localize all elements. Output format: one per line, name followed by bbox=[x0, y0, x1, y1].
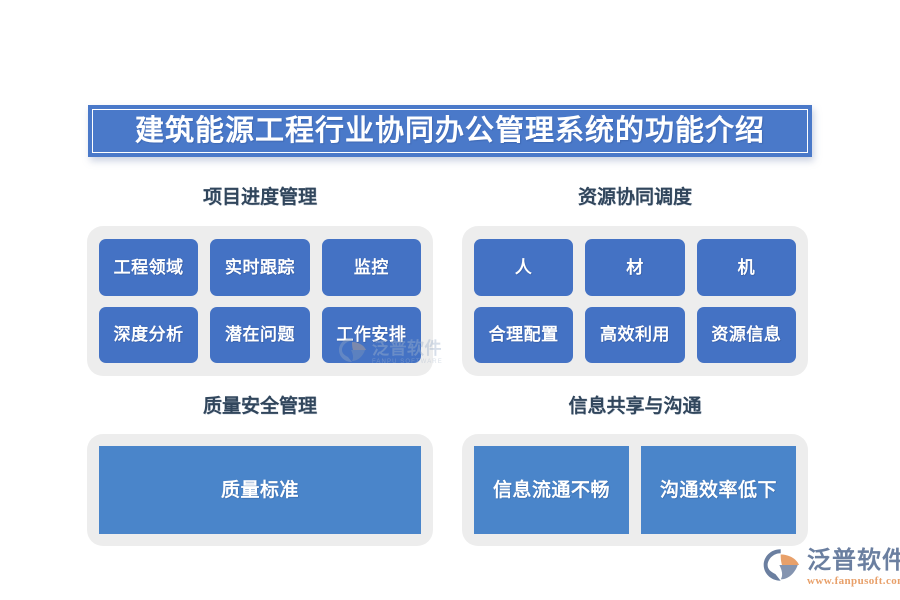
fanpu-brand-icon bbox=[762, 548, 802, 587]
panel-info-sharing: 信息流通不畅 沟通效率低下 bbox=[462, 434, 808, 546]
chip-potential-issues[interactable]: 潜在问题 bbox=[210, 307, 309, 364]
chip-realtime-tracking[interactable]: 实时跟踪 bbox=[210, 239, 309, 296]
chip-work-arrangement[interactable]: 工作安排 bbox=[322, 307, 421, 364]
section-heading-info-sharing: 信息共享与沟通 bbox=[462, 397, 808, 416]
block-poor-info-flow[interactable]: 信息流通不畅 bbox=[474, 446, 629, 534]
block-row-info-sharing: 信息流通不畅 沟通效率低下 bbox=[474, 446, 796, 534]
poster-canvas: 建筑能源工程行业协同办公管理系统的功能介绍 项目进度管理 工程领域 实时跟踪 监… bbox=[0, 0, 900, 600]
chip-grid-project-progress: 工程领域 实时跟踪 监控 深度分析 潜在问题 工作安排 bbox=[99, 239, 421, 363]
block-row-quality-safety: 质量标准 bbox=[99, 446, 421, 534]
chip-resource-info[interactable]: 资源信息 bbox=[697, 307, 796, 364]
chip-people[interactable]: 人 bbox=[474, 239, 573, 296]
brand-url: www.fanpusoft.com bbox=[807, 576, 900, 587]
section-heading-resource-scheduling: 资源协同调度 bbox=[462, 188, 808, 207]
block-quality-standard[interactable]: 质量标准 bbox=[99, 446, 421, 534]
chip-machine[interactable]: 机 bbox=[697, 239, 796, 296]
chip-monitoring[interactable]: 监控 bbox=[322, 239, 421, 296]
brand-name-cn: 泛普软件 bbox=[807, 549, 900, 573]
chip-efficient-use[interactable]: 高效利用 bbox=[585, 307, 684, 364]
panel-resource-scheduling: 人 材 机 合理配置 高效利用 资源信息 bbox=[462, 226, 808, 376]
block-low-communication-efficiency[interactable]: 沟通效率低下 bbox=[641, 446, 796, 534]
corner-logo-text: 泛普软件 www.fanpusoft.com bbox=[807, 549, 900, 587]
section-heading-quality-safety: 质量安全管理 bbox=[87, 397, 433, 416]
section-heading-project-progress: 项目进度管理 bbox=[87, 188, 433, 207]
chip-material[interactable]: 材 bbox=[585, 239, 684, 296]
chip-rational-allocation[interactable]: 合理配置 bbox=[474, 307, 573, 364]
chip-engineering-field[interactable]: 工程领域 bbox=[99, 239, 198, 296]
panel-project-progress: 工程领域 实时跟踪 监控 深度分析 潜在问题 工作安排 bbox=[87, 226, 433, 376]
corner-logo: 泛普软件 www.fanpusoft.com bbox=[762, 548, 900, 587]
panel-quality-safety: 质量标准 bbox=[87, 434, 433, 546]
chip-deep-analysis[interactable]: 深度分析 bbox=[99, 307, 198, 364]
page-title: 建筑能源工程行业协同办公管理系统的功能介绍 bbox=[135, 117, 765, 146]
chip-grid-resource-scheduling: 人 材 机 合理配置 高效利用 资源信息 bbox=[474, 239, 796, 363]
title-banner: 建筑能源工程行业协同办公管理系统的功能介绍 bbox=[88, 105, 812, 157]
